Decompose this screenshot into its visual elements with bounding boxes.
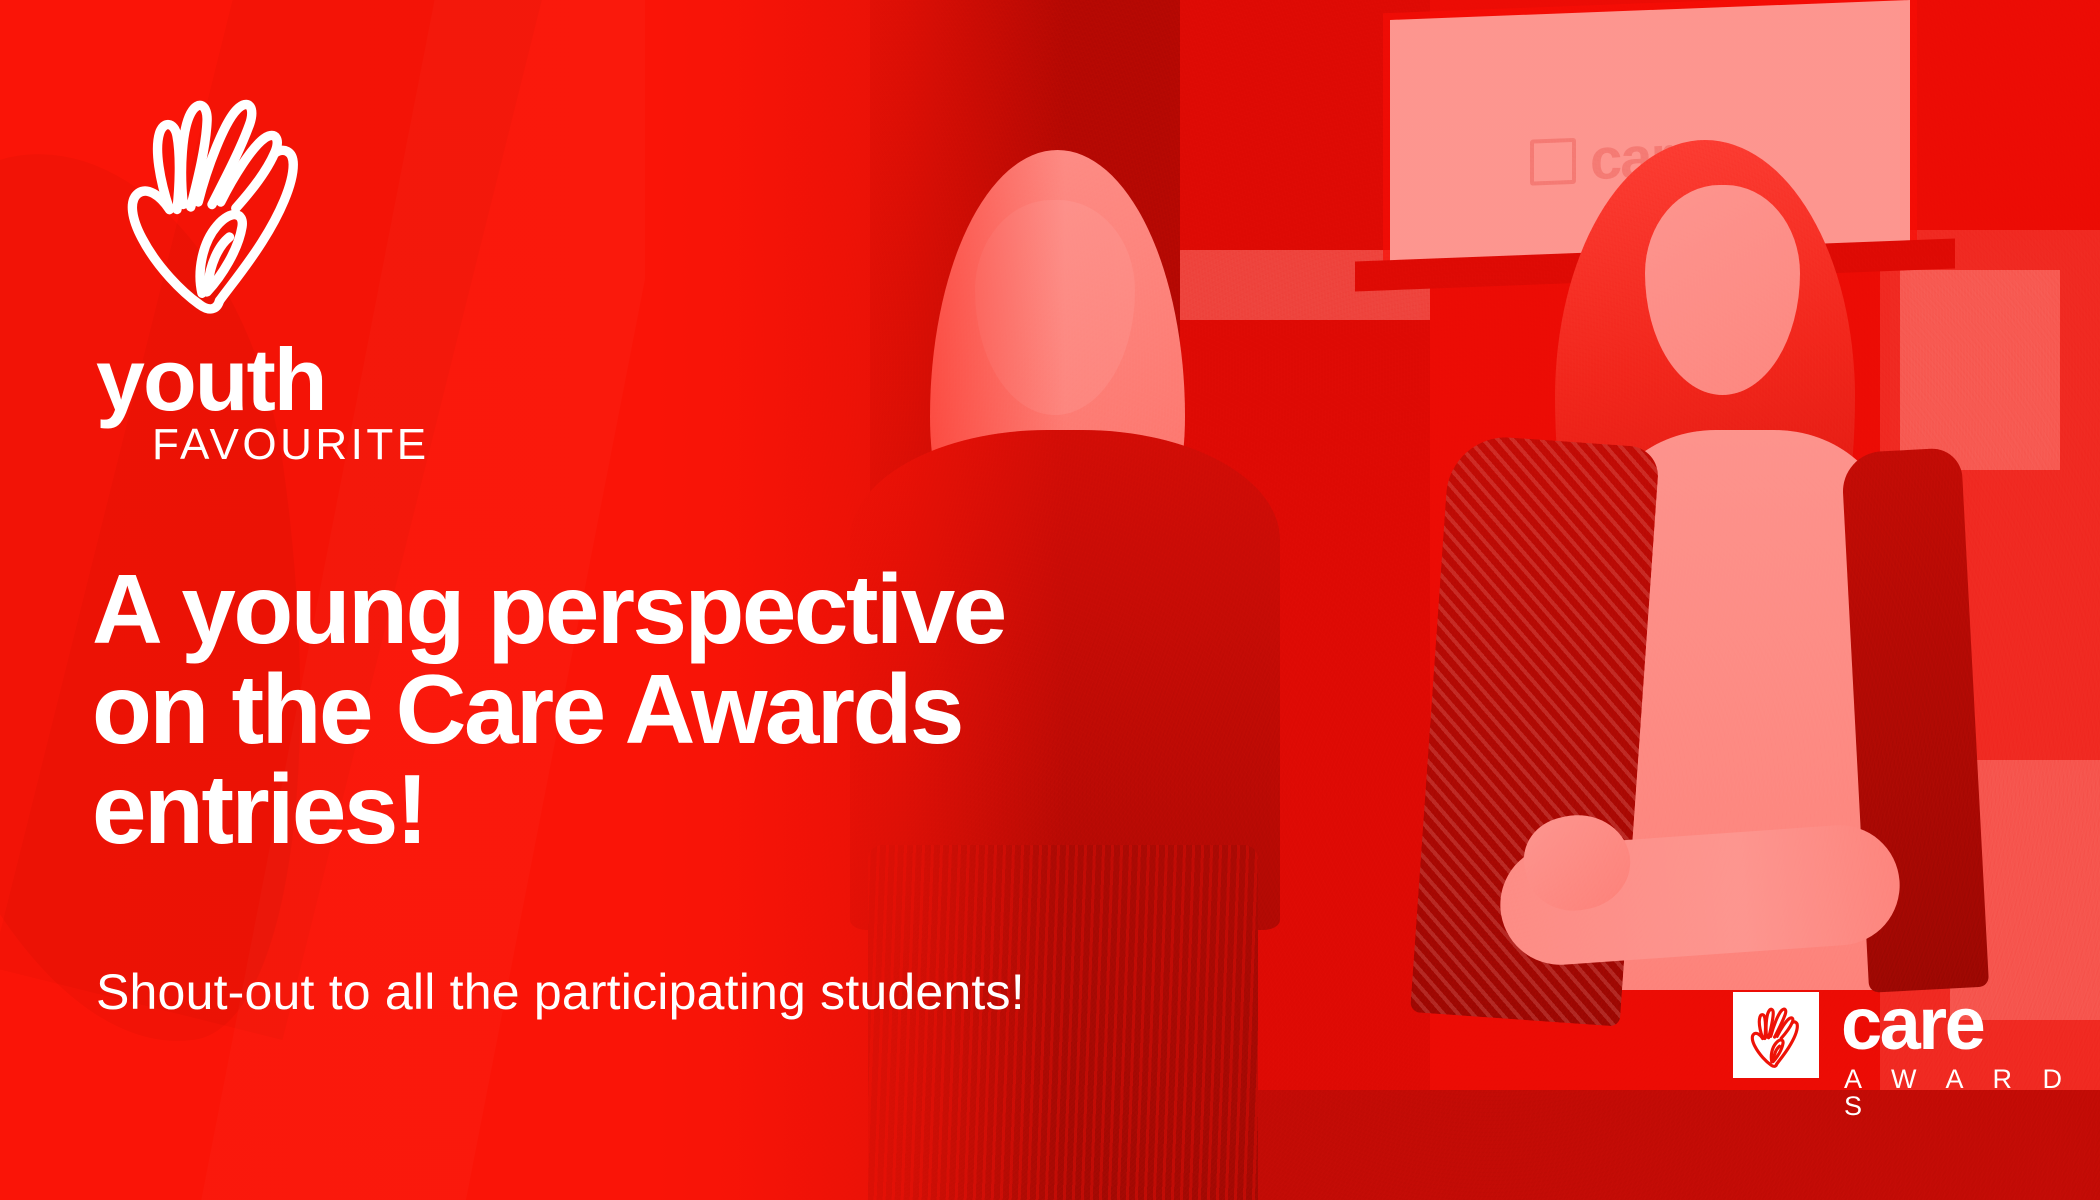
headline-line-3: entries!: [92, 760, 1272, 860]
headline-line-2: on the Care Awards: [92, 660, 1272, 760]
youth-wordmark: youth: [96, 340, 512, 421]
hand-outline-icon: [92, 72, 342, 322]
hand-outline-icon: [1741, 1000, 1811, 1070]
headline-line-1: A young perspective: [92, 560, 1272, 660]
awards-wordmark: A W A R D S: [1844, 1066, 2100, 1120]
youth-favourite-logo: youth FAVOURITE: [92, 72, 512, 467]
favourite-wordmark: FAVOURITE: [152, 423, 512, 467]
care-awards-social-banner: care: [0, 0, 2100, 1200]
care-logo-mark: [1733, 992, 1819, 1078]
care-awards-logo: care A W A R D S: [1733, 992, 2100, 1120]
page-title: A young perspective on the Care Awards e…: [92, 560, 1272, 860]
care-logo-wordmark-group: care A W A R D S: [1841, 992, 2100, 1120]
care-wordmark: care: [1841, 994, 2100, 1055]
subtitle-text: Shout-out to all the participating stude…: [96, 963, 1025, 1021]
